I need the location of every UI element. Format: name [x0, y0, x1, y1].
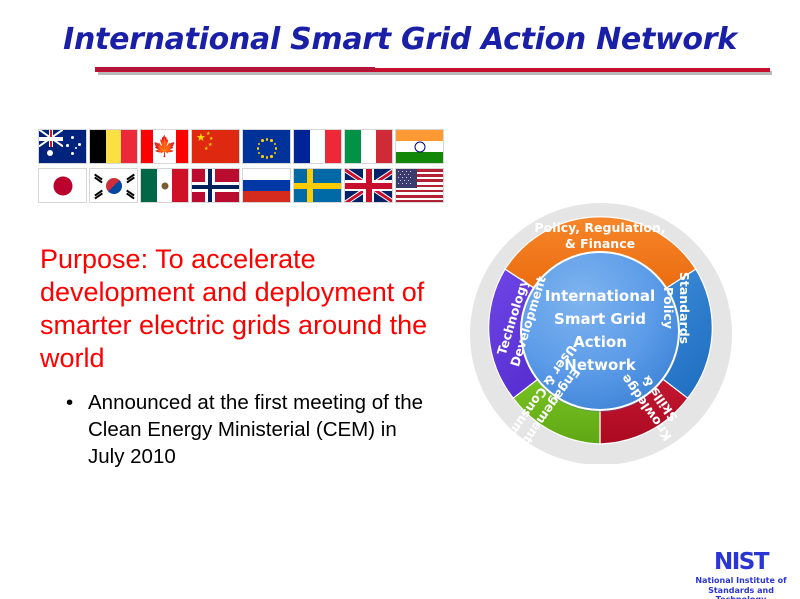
donut-svg: International Smart Grid Action Network … — [467, 198, 733, 464]
bullet-list: • Announced at the first meeting of the … — [62, 389, 432, 470]
flag-european-union — [242, 129, 291, 164]
title-rule-accent — [95, 67, 375, 71]
nist-tagline-line-2: Standards and Technology — [689, 586, 793, 599]
flag-japan — [38, 168, 87, 203]
list-item-label: Announced at the first meeting of the Cl… — [88, 391, 423, 468]
flag-russia — [242, 168, 291, 203]
flag-row-1: 🍁 ★ ★ ★ ★ ★ — [38, 129, 448, 164]
segment-label-standards-line2: Policy — [661, 287, 676, 329]
flag-sweden — [293, 168, 342, 203]
slide-canvas: International Smart Grid Action Network — [0, 0, 800, 599]
segment-label-policy-line1: Policy, Regulation, — [534, 220, 665, 235]
isgan-donut-diagram: International Smart Grid Action Network … — [467, 198, 733, 464]
flag-belgium — [89, 129, 138, 164]
hub-line-2: Smart Grid — [554, 310, 646, 328]
hub-line-3: Action — [573, 333, 627, 351]
purpose-statement: Purpose: To accelerate development and d… — [40, 243, 440, 375]
flag-china: ★ ★ ★ ★ ★ — [191, 129, 240, 164]
flag-grid: 🍁 ★ ★ ★ ★ ★ — [38, 129, 448, 207]
flag-india — [395, 129, 444, 164]
flag-australia — [38, 129, 87, 164]
nist-tagline: National Institute of Standards and Tech… — [689, 576, 793, 599]
segment-label-policy-line2: & Finance — [565, 236, 635, 251]
ashoka-chakra-icon — [414, 141, 425, 152]
flag-united-kingdom — [344, 168, 393, 203]
nist-logo: NIST National Institute of Standards and… — [689, 551, 793, 599]
nist-tagline-line-1: National Institute of — [689, 576, 793, 586]
flag-mexico — [140, 168, 189, 203]
list-item: • Announced at the first meeting of the … — [62, 389, 432, 470]
segment-label-standards-line1: Standards — [677, 272, 692, 344]
coat-of-arms-icon — [161, 182, 168, 189]
flag-italy — [344, 129, 393, 164]
flag-norway — [191, 168, 240, 203]
flag-south-korea — [89, 168, 138, 203]
bullet-marker: • — [66, 389, 73, 416]
flag-france — [293, 129, 342, 164]
maple-leaf-icon: 🍁 — [152, 137, 177, 157]
page-title: International Smart Grid Action Network — [0, 22, 800, 57]
nist-wordmark: NIST — [689, 551, 793, 574]
hub-line-1: International — [545, 287, 655, 305]
flag-united-states — [395, 168, 444, 203]
flag-canada: 🍁 — [140, 129, 189, 164]
flag-row-2 — [38, 168, 448, 203]
